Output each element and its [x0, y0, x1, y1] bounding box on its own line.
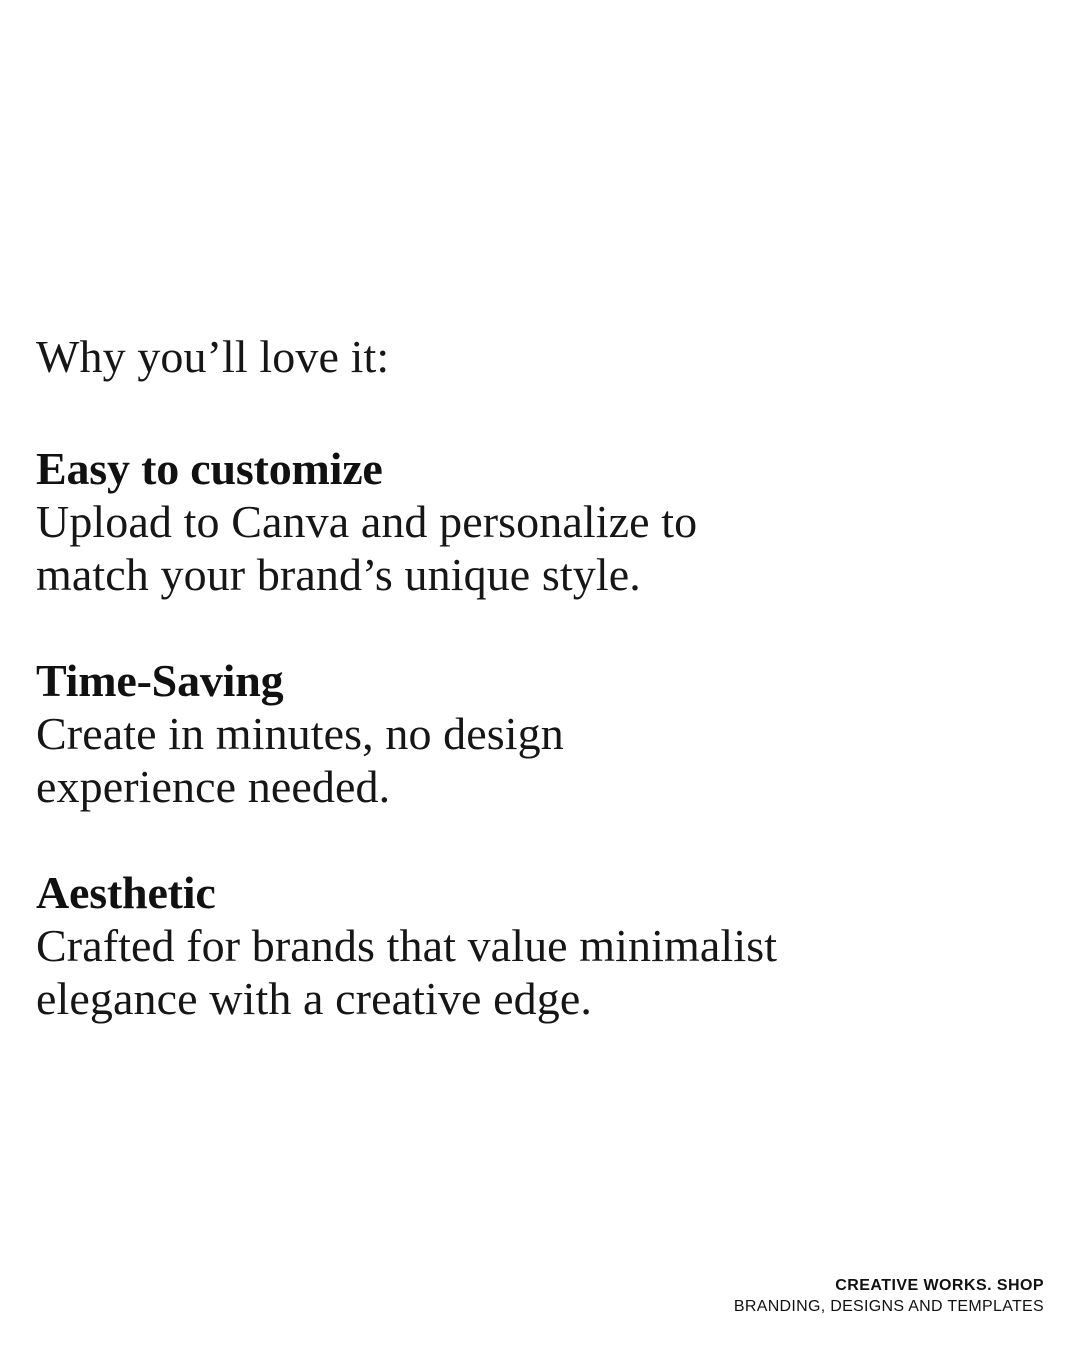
- feature-block-time-saving: Time-Saving Create in minutes, no design…: [36, 654, 976, 813]
- feature-body: Create in minutes, no design experience …: [36, 707, 976, 813]
- feature-body-line: elegance with a creative edge.: [36, 972, 976, 1025]
- intro-heading: Why you’ll love it:: [36, 330, 976, 383]
- feature-block-easy-to-customize: Easy to customize Upload to Canva and pe…: [36, 442, 976, 601]
- feature-body-line: Create in minutes, no design: [36, 707, 976, 760]
- feature-body: Upload to Canva and personalize to match…: [36, 495, 976, 601]
- feature-body-line: experience needed.: [36, 760, 976, 813]
- feature-list: Easy to customize Upload to Canva and pe…: [36, 442, 976, 1025]
- feature-body-line: Upload to Canva and personalize to: [36, 495, 976, 548]
- feature-title: Aesthetic: [36, 866, 976, 919]
- feature-content: Why you’ll love it: Easy to customize Up…: [36, 330, 976, 1025]
- feature-body: Crafted for brands that value minimalist…: [36, 919, 976, 1025]
- feature-body-line: Crafted for brands that value minimalist: [36, 919, 976, 972]
- feature-title: Time-Saving: [36, 654, 976, 707]
- feature-title: Easy to customize: [36, 442, 976, 495]
- footer-brand-mark: CREATIVE WORKS. SHOP BRANDING, DESIGNS A…: [734, 1275, 1044, 1317]
- feature-block-aesthetic: Aesthetic Crafted for brands that value …: [36, 866, 976, 1025]
- feature-body-line: match your brand’s unique style.: [36, 548, 976, 601]
- footer-brand-name: CREATIVE WORKS. SHOP: [734, 1275, 1044, 1296]
- slide-canvas: Why you’ll love it: Easy to customize Up…: [0, 0, 1080, 1350]
- footer-tagline: BRANDING, DESIGNS AND TEMPLATES: [734, 1296, 1044, 1317]
